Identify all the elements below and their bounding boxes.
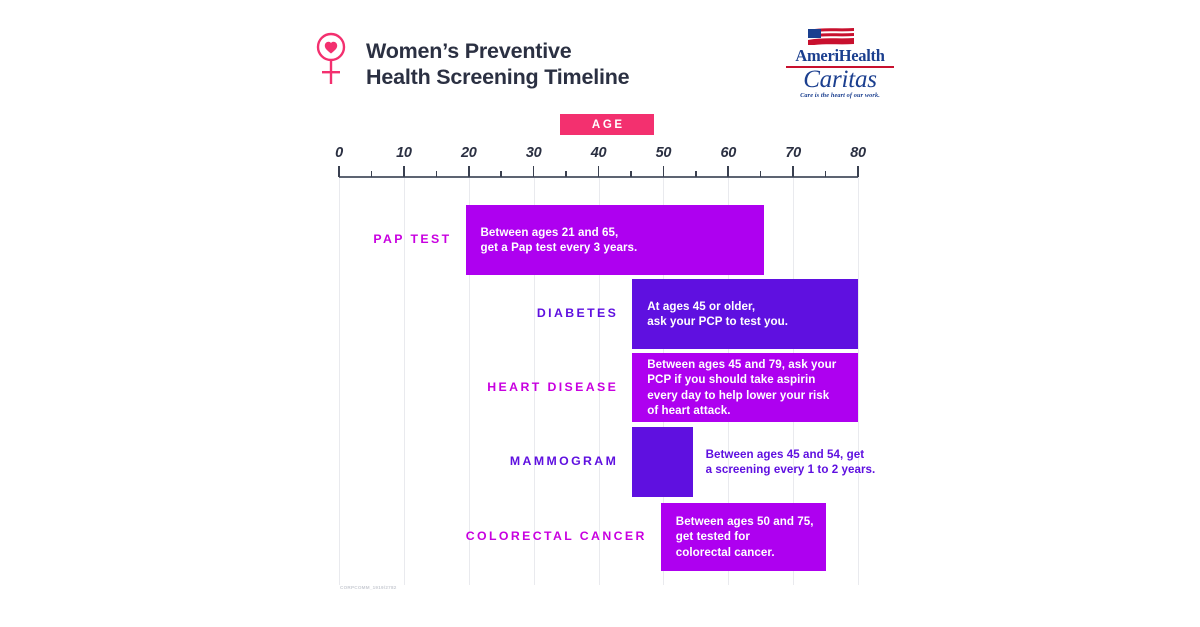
bar-description: Between ages 21 and 65, get a Pap test e… <box>481 225 638 255</box>
tick-minor-15 <box>436 171 438 177</box>
tick-label-30: 30 <box>526 145 542 161</box>
tick-major-40 <box>598 166 600 177</box>
tick-label-20: 20 <box>461 145 477 161</box>
infographic-header: Women’s Preventive Health Screening Time… <box>0 0 1200 110</box>
logo-name-top: AmeriHealth <box>780 46 900 66</box>
tick-label-10: 10 <box>396 145 412 161</box>
tick-label-50: 50 <box>656 145 672 161</box>
tick-major-20 <box>468 166 470 177</box>
tick-major-10 <box>403 166 405 177</box>
tick-major-0 <box>338 166 340 177</box>
timeline-row: DIABETESAt ages 45 or older, ask your PC… <box>0 279 1200 349</box>
tick-major-30 <box>533 166 535 177</box>
us-flag-icon <box>808 28 870 45</box>
timeline-row: PAP TESTBetween ages 21 and 65, get a Pa… <box>0 205 1200 275</box>
tick-major-70 <box>792 166 794 177</box>
bar-description: Between ages 45 and 54, get a screening … <box>706 447 876 477</box>
row-label-colorectal-cancer: COLORECTAL CANCER <box>466 529 647 543</box>
tick-minor-5 <box>371 171 373 177</box>
title-line-2: Health Screening Timeline <box>366 64 756 90</box>
tick-label-40: 40 <box>591 145 607 161</box>
row-label-diabetes: DIABETES <box>537 306 618 320</box>
document-code: CORPCOMM_1919/2782 <box>340 585 397 590</box>
page-title: Women’s Preventive Health Screening Time… <box>366 38 756 90</box>
tick-label-80: 80 <box>850 145 866 161</box>
venus-heart-icon <box>311 32 351 86</box>
tick-minor-25 <box>500 171 502 177</box>
tick-major-50 <box>663 166 665 177</box>
tick-minor-45 <box>630 171 632 177</box>
bar-description: Between ages 45 and 79, ask your PCP if … <box>647 357 836 418</box>
logo-name-bottom: Caritas <box>780 66 900 94</box>
row-label-heart-disease: HEART DISEASE <box>487 380 618 394</box>
tick-label-0: 0 <box>335 145 343 161</box>
amerihealth-caritas-logo: AmeriHealth Caritas Care is the heart of… <box>780 28 900 98</box>
tick-minor-75 <box>825 171 827 177</box>
timeline-row: MAMMOGRAMBetween ages 45 and 54, get a s… <box>0 427 1200 497</box>
age-axis-badge: AGE <box>560 114 654 135</box>
row-label-mammogram: MAMMOGRAM <box>510 454 618 468</box>
tick-minor-65 <box>760 171 762 177</box>
timeline-chart: 01020304050607080 PAP TESTBetween ages 2… <box>339 145 858 585</box>
tick-label-60: 60 <box>720 145 736 161</box>
logo-tagline: Care is the heart of our work. <box>780 92 900 99</box>
timeline-row: HEART DISEASEBetween ages 45 and 79, ask… <box>0 353 1200 422</box>
tick-label-70: 70 <box>785 145 801 161</box>
tick-major-80 <box>857 166 859 177</box>
bar-description: At ages 45 or older, ask your PCP to tes… <box>647 299 788 329</box>
title-line-1: Women’s Preventive <box>366 38 756 64</box>
timeline-bar-mammogram <box>632 427 692 497</box>
tick-minor-35 <box>565 171 567 177</box>
bar-description: Between ages 50 and 75, get tested for c… <box>676 514 814 560</box>
tick-minor-55 <box>695 171 697 177</box>
tick-major-60 <box>727 166 729 177</box>
row-label-pap-test: PAP TEST <box>373 232 451 246</box>
timeline-row: COLORECTAL CANCERBetween ages 50 and 75,… <box>0 503 1200 571</box>
